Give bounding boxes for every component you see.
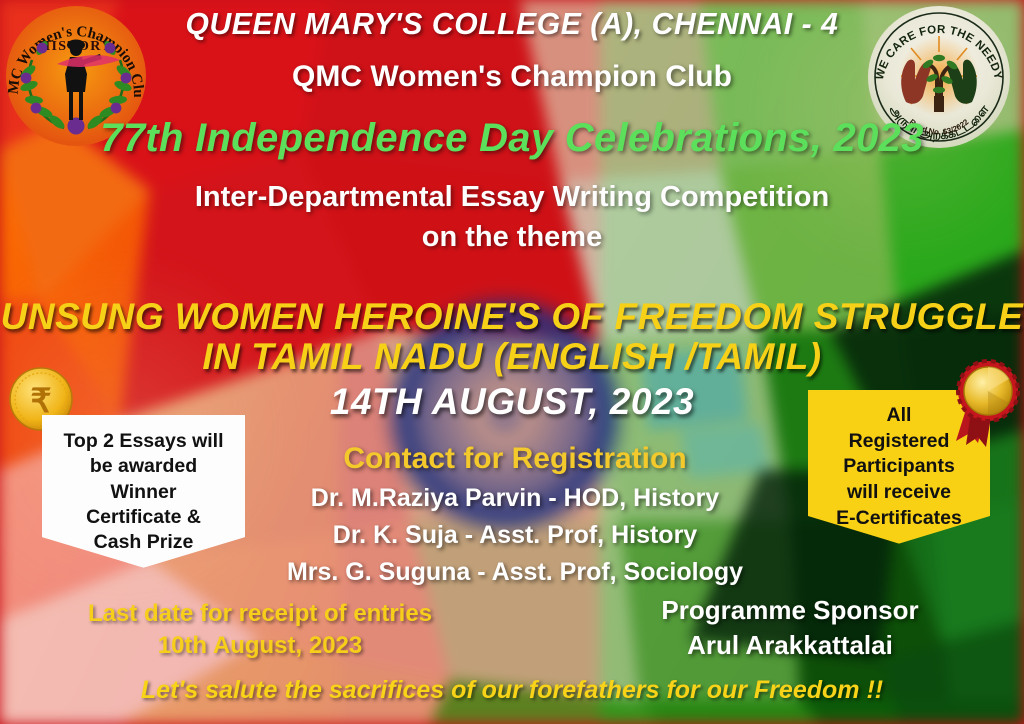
certificate-badge-line: will receive xyxy=(814,480,984,506)
gold-medal-rosette-icon xyxy=(952,357,1022,449)
sponsor-name: Arul Arakkattalai xyxy=(560,628,1020,663)
independence-day-heading: 77th Independence Day Celebrations, 2023 xyxy=(0,116,1024,161)
theme-lead-in: on the theme xyxy=(0,221,1024,254)
salute-tagline: Let's salute the sacrifices of our foref… xyxy=(0,676,1024,705)
contact-heading: Contact for Registration xyxy=(235,442,795,476)
last-date-block: Last date for receipt of entries 10th Au… xyxy=(10,598,510,663)
last-date-label: Last date for receipt of entries xyxy=(10,598,510,630)
certificate-badge-line: Participants xyxy=(814,454,984,480)
theme-line-2: IN TAMIL NADU (ENGLISH /TAMIL) xyxy=(0,338,1024,376)
club-name: QMC Women's Champion Club xyxy=(0,60,1024,94)
prize-badge-line: Top 2 Essays will xyxy=(50,429,237,454)
poster-root: QMC Women's Champion Club HISTORY xyxy=(0,0,1024,724)
page-title: QUEEN MARY'S COLLEGE (A), CHENNAI - 4 xyxy=(15,8,1008,41)
competition-subtitle: Inter-Departmental Essay Writing Competi… xyxy=(0,181,1024,214)
header-block: QUEEN MARY'S COLLEGE (A), CHENNAI - 4 QM… xyxy=(0,8,1024,254)
contact-person: Dr. M.Raziya Parvin - HOD, History xyxy=(235,484,795,513)
contact-person: Mrs. G. Suguna - Asst. Prof, Sociology xyxy=(235,558,795,587)
last-date-value: 10th August, 2023 xyxy=(10,630,510,662)
prize-badge-line: Winner xyxy=(50,480,237,505)
theme-line-1: UNSUNG WOMEN HEROINE'S OF FREEDOM STRUGG… xyxy=(0,298,1024,336)
sponsor-label: Programme Sponsor xyxy=(560,593,1020,628)
prize-badge: Top 2 Essays will be awarded Winner Cert… xyxy=(42,415,245,568)
prize-badge-line: Certificate & xyxy=(50,505,237,530)
contact-block: Contact for Registration Dr. M.Raziya Pa… xyxy=(235,442,795,587)
prize-badge-line: be awarded xyxy=(50,454,237,479)
sponsor-block: Programme Sponsor Arul Arakkattalai xyxy=(560,593,1020,663)
contact-person: Dr. K. Suja - Asst. Prof, History xyxy=(235,521,795,550)
svg-text:₹: ₹ xyxy=(31,382,52,419)
